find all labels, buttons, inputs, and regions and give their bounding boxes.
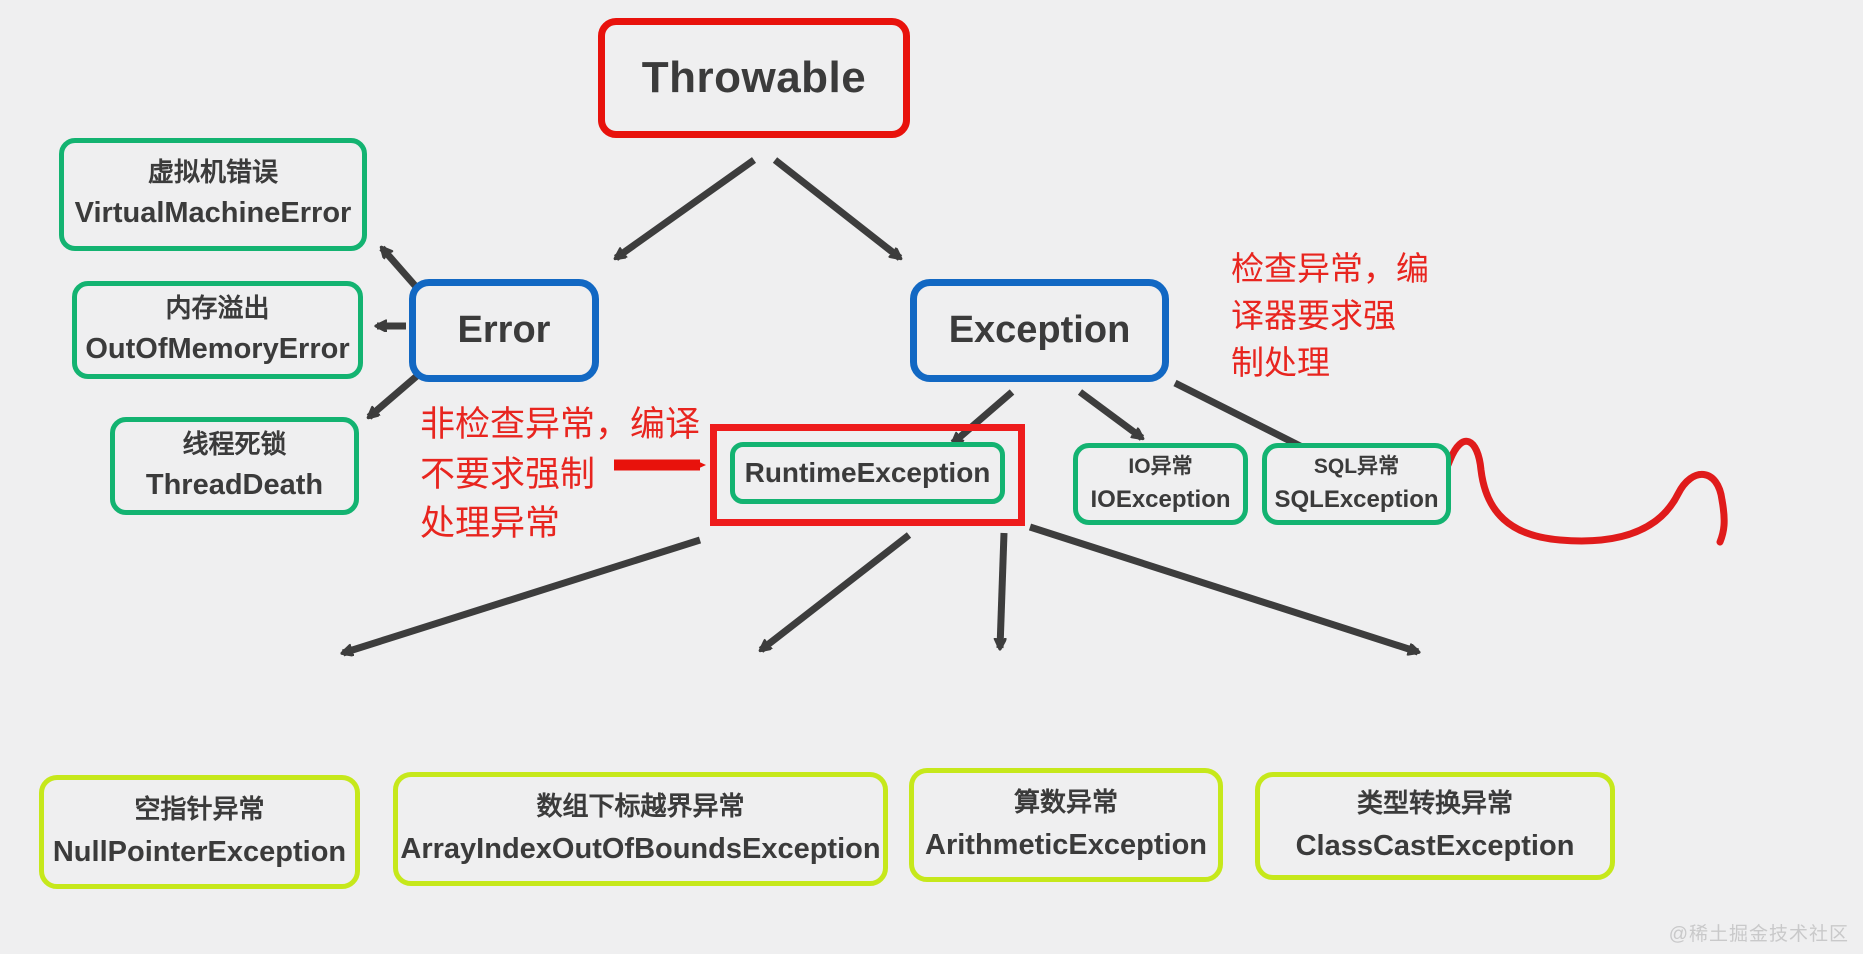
node-threaddeath-en: ThreadDeath bbox=[146, 468, 323, 503]
node-threaddeath-cn: 线程死锁 bbox=[182, 429, 286, 461]
node-arrayindexoutofboundsexception[interactable]: 数组下标越界异常 ArrayIndexOutOfBoundsException bbox=[393, 772, 888, 886]
node-outofmemoryerror-en: OutOfMemoryError bbox=[85, 332, 349, 367]
arrow-error-to-virtualmachineerror bbox=[382, 248, 418, 289]
arrow-throwable-to-exception bbox=[775, 160, 900, 258]
node-runtimeexception[interactable]: RuntimeException bbox=[730, 442, 1005, 504]
node-nullpointerexception-cn: 空指针异常 bbox=[134, 794, 264, 826]
watermark: @稀土掘金技术社区 bbox=[1669, 919, 1849, 946]
node-outofmemoryerror-cn: 内存溢出 bbox=[165, 293, 269, 325]
node-arithmeticexception-cn: 算数异常 bbox=[1014, 787, 1118, 819]
arrow-runtime-to-arithmeticexception bbox=[1000, 533, 1004, 648]
node-sqlexception-en: SQLException bbox=[1274, 485, 1438, 514]
node-throwable-label: Throwable bbox=[642, 51, 867, 105]
node-error[interactable]: Error bbox=[409, 279, 599, 382]
node-error-label: Error bbox=[458, 307, 551, 353]
arrow-runtime-to-nullpointerexception bbox=[343, 540, 700, 653]
node-exception-label: Exception bbox=[949, 307, 1131, 353]
node-classcastexception-cn: 类型转换异常 bbox=[1357, 788, 1513, 820]
node-classcastexception[interactable]: 类型转换异常 ClassCastException bbox=[1255, 772, 1615, 880]
node-sqlexception[interactable]: SQL异常 SQLException bbox=[1262, 443, 1451, 525]
node-virtualmachineerror-cn: 虚拟机错误 bbox=[148, 157, 278, 189]
node-arrayindexoutofboundsexception-cn: 数组下标越界异常 bbox=[536, 791, 744, 823]
arrow-exception-to-ioexception bbox=[1080, 392, 1142, 438]
annotation-unchecked-exception: 非检查异常，编译 不要求强制 处理异常 bbox=[420, 400, 720, 549]
node-sqlexception-cn: SQL异常 bbox=[1314, 454, 1399, 480]
node-nullpointerexception-en: NullPointerException bbox=[53, 835, 346, 870]
diagram-canvas: Throwable Error Exception 虚拟机错误 VirtualM… bbox=[0, 0, 1863, 954]
node-threaddeath[interactable]: 线程死锁 ThreadDeath bbox=[110, 417, 359, 515]
arrow-runtime-to-classcastexception bbox=[1030, 527, 1418, 652]
node-arrayindexoutofboundsexception-en: ArrayIndexOutOfBoundsException bbox=[400, 832, 880, 867]
node-arithmeticexception[interactable]: 算数异常 ArithmeticException bbox=[909, 768, 1223, 882]
node-arithmeticexception-en: ArithmeticException bbox=[925, 828, 1207, 863]
node-virtualmachineerror[interactable]: 虚拟机错误 VirtualMachineError bbox=[59, 138, 367, 251]
arrow-throwable-to-error bbox=[616, 160, 754, 258]
node-ioexception-en: IOException bbox=[1090, 485, 1230, 514]
node-ioexception-cn: IO异常 bbox=[1128, 454, 1192, 480]
arrow-runtime-to-arrayindexoutofbounds bbox=[761, 535, 909, 650]
node-ioexception[interactable]: IO异常 IOException bbox=[1073, 443, 1248, 525]
node-classcastexception-en: ClassCastException bbox=[1296, 829, 1575, 864]
node-outofmemoryerror[interactable]: 内存溢出 OutOfMemoryError bbox=[72, 281, 363, 379]
node-runtimeexception-label: RuntimeException bbox=[745, 456, 991, 490]
arrow-error-to-threaddeath bbox=[369, 375, 418, 417]
annotation-checked-exception: 检查异常，编 译器要求强 制处理 bbox=[1231, 246, 1463, 387]
node-nullpointerexception[interactable]: 空指针异常 NullPointerException bbox=[39, 775, 360, 889]
node-throwable[interactable]: Throwable bbox=[598, 18, 910, 138]
node-virtualmachineerror-en: VirtualMachineError bbox=[75, 196, 352, 231]
node-exception[interactable]: Exception bbox=[910, 279, 1169, 382]
